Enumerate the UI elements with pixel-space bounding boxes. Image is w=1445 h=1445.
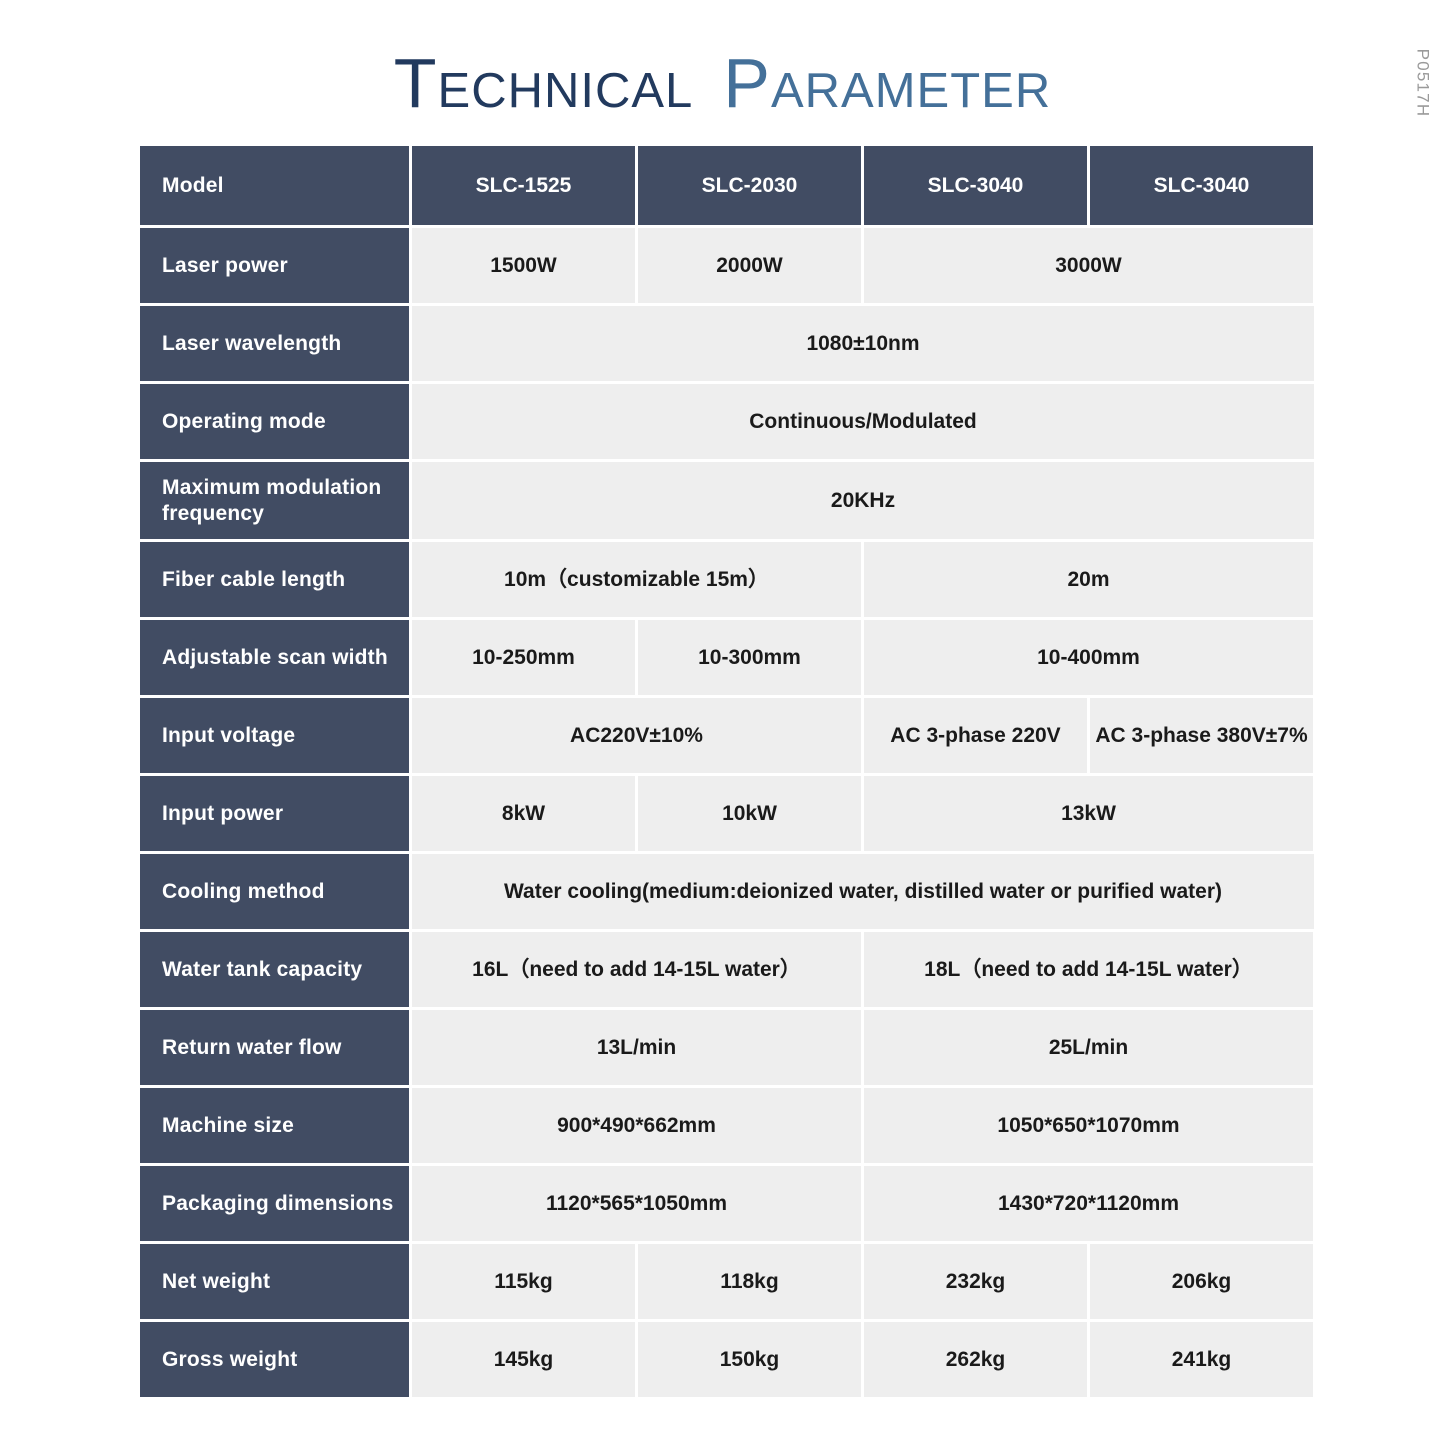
cell-net-weight-4: 206kg — [1090, 1244, 1313, 1319]
table-row: Return water flow13L/min25L/min — [140, 1010, 1314, 1085]
cell-net-weight-2: 118kg — [638, 1244, 861, 1319]
table-row: Fiber cable length10m（customizable 15m）2… — [140, 542, 1314, 617]
cell-water-tank-capacity-2: 18L（need to add 14-15L water） — [864, 932, 1313, 1007]
cell-machine-size-1: 900*490*662mm — [412, 1088, 861, 1163]
row-label-input-power: Input power — [140, 776, 409, 851]
table-row: Input voltageAC220V±10%AC 3-phase 220VAC… — [140, 698, 1314, 773]
cell-packaging-dimensions-1: 1120*565*1050mm — [412, 1166, 861, 1241]
cell-net-weight-3: 232kg — [864, 1244, 1087, 1319]
cell-operating-mode-1: Continuous/Modulated — [412, 384, 1314, 459]
table-row: Water tank capacity16L（need to add 14-15… — [140, 932, 1314, 1007]
specification-table: ModelSLC-1525SLC-2030SLC-3040SLC-3040Las… — [140, 146, 1314, 1397]
cell-fiber-cable-length-2: 20m — [864, 542, 1313, 617]
row-label-input-voltage: Input voltage — [140, 698, 409, 773]
cell-adjustable-scan-width-1: 10-250mm — [412, 620, 635, 695]
cell-return-water-flow-1: 13L/min — [412, 1010, 861, 1085]
page-title-word-parameter: Parameter — [723, 44, 1051, 122]
table-row: Gross weight145kg150kg262kg241kg — [140, 1322, 1314, 1397]
cell-cooling-method-1: Water cooling(medium:deionized water, di… — [412, 854, 1314, 929]
table-row: Operating modeContinuous/Modulated — [140, 384, 1314, 459]
cell-input-voltage-1: AC220V±10% — [412, 698, 861, 773]
cell-gross-weight-2: 150kg — [638, 1322, 861, 1397]
cell-adjustable-scan-width-3: 10-400mm — [864, 620, 1313, 695]
header-model-4: SLC-3040 — [1090, 146, 1313, 225]
cell-gross-weight-1: 145kg — [412, 1322, 635, 1397]
row-label-laser-power: Laser power — [140, 228, 409, 303]
cell-laser-power-2: 2000W — [638, 228, 861, 303]
table-header-row: ModelSLC-1525SLC-2030SLC-3040SLC-3040 — [140, 146, 1314, 225]
cell-laser-power-3: 3000W — [864, 228, 1313, 303]
cell-return-water-flow-2: 25L/min — [864, 1010, 1313, 1085]
cell-machine-size-2: 1050*650*1070mm — [864, 1088, 1313, 1163]
cell-laser-power-1: 1500W — [412, 228, 635, 303]
cell-maximum-modulation-frequency-1: 20KHz — [412, 462, 1314, 539]
table-row: Input power8kW10kW13kW — [140, 776, 1314, 851]
table-row: Adjustable scan width10-250mm10-300mm10-… — [140, 620, 1314, 695]
cell-input-power-1: 8kW — [412, 776, 635, 851]
cell-input-voltage-3: AC 3-phase 380V±7% — [1090, 698, 1313, 773]
cell-water-tank-capacity-1: 16L（need to add 14-15L water） — [412, 932, 861, 1007]
cell-fiber-cable-length-1: 10m（customizable 15m） — [412, 542, 861, 617]
table-row: Packaging dimensions1120*565*1050mm1430*… — [140, 1166, 1314, 1241]
row-label-fiber-cable-length: Fiber cable length — [140, 542, 409, 617]
cell-input-power-3: 13kW — [864, 776, 1313, 851]
table-row: Cooling methodWater cooling(medium:deion… — [140, 854, 1314, 929]
cell-adjustable-scan-width-2: 10-300mm — [638, 620, 861, 695]
cell-input-power-2: 10kW — [638, 776, 861, 851]
row-label-machine-size: Machine size — [140, 1088, 409, 1163]
technical-parameter-sheet: P0517H TechnicalParameter ModelSLC-1525S… — [0, 0, 1445, 1445]
table-row: Net weight115kg118kg232kg206kg — [140, 1244, 1314, 1319]
row-label-operating-mode: Operating mode — [140, 384, 409, 459]
header-model-3: SLC-3040 — [864, 146, 1087, 225]
page-title-word-technical: Technical — [394, 44, 694, 122]
cell-input-voltage-2: AC 3-phase 220V — [864, 698, 1087, 773]
table-row: Machine size900*490*662mm1050*650*1070mm — [140, 1088, 1314, 1163]
table-row: Laser wavelength1080±10nm — [140, 306, 1314, 381]
header-model-1: SLC-1525 — [412, 146, 635, 225]
table-row: Laser power1500W2000W3000W — [140, 228, 1314, 303]
cell-net-weight-1: 115kg — [412, 1244, 635, 1319]
cell-gross-weight-3: 262kg — [864, 1322, 1087, 1397]
cell-laser-wavelength-1: 1080±10nm — [412, 306, 1314, 381]
header-model-2: SLC-2030 — [638, 146, 861, 225]
row-label-laser-wavelength: Laser wavelength — [140, 306, 409, 381]
table-row: Maximum modulation frequency20KHz — [140, 462, 1314, 539]
row-label-packaging-dimensions: Packaging dimensions — [140, 1166, 409, 1241]
cell-gross-weight-4: 241kg — [1090, 1322, 1313, 1397]
page-title: TechnicalParameter — [0, 44, 1445, 122]
row-label-adjustable-scan-width: Adjustable scan width — [140, 620, 409, 695]
row-label-cooling-method: Cooling method — [140, 854, 409, 929]
cell-packaging-dimensions-2: 1430*720*1120mm — [864, 1166, 1313, 1241]
row-label-water-tank-capacity: Water tank capacity — [140, 932, 409, 1007]
row-label-gross-weight: Gross weight — [140, 1322, 409, 1397]
header-label-model: Model — [140, 146, 409, 225]
row-label-net-weight: Net weight — [140, 1244, 409, 1319]
row-label-return-water-flow: Return water flow — [140, 1010, 409, 1085]
row-label-maximum-modulation-frequency: Maximum modulation frequency — [140, 462, 409, 539]
